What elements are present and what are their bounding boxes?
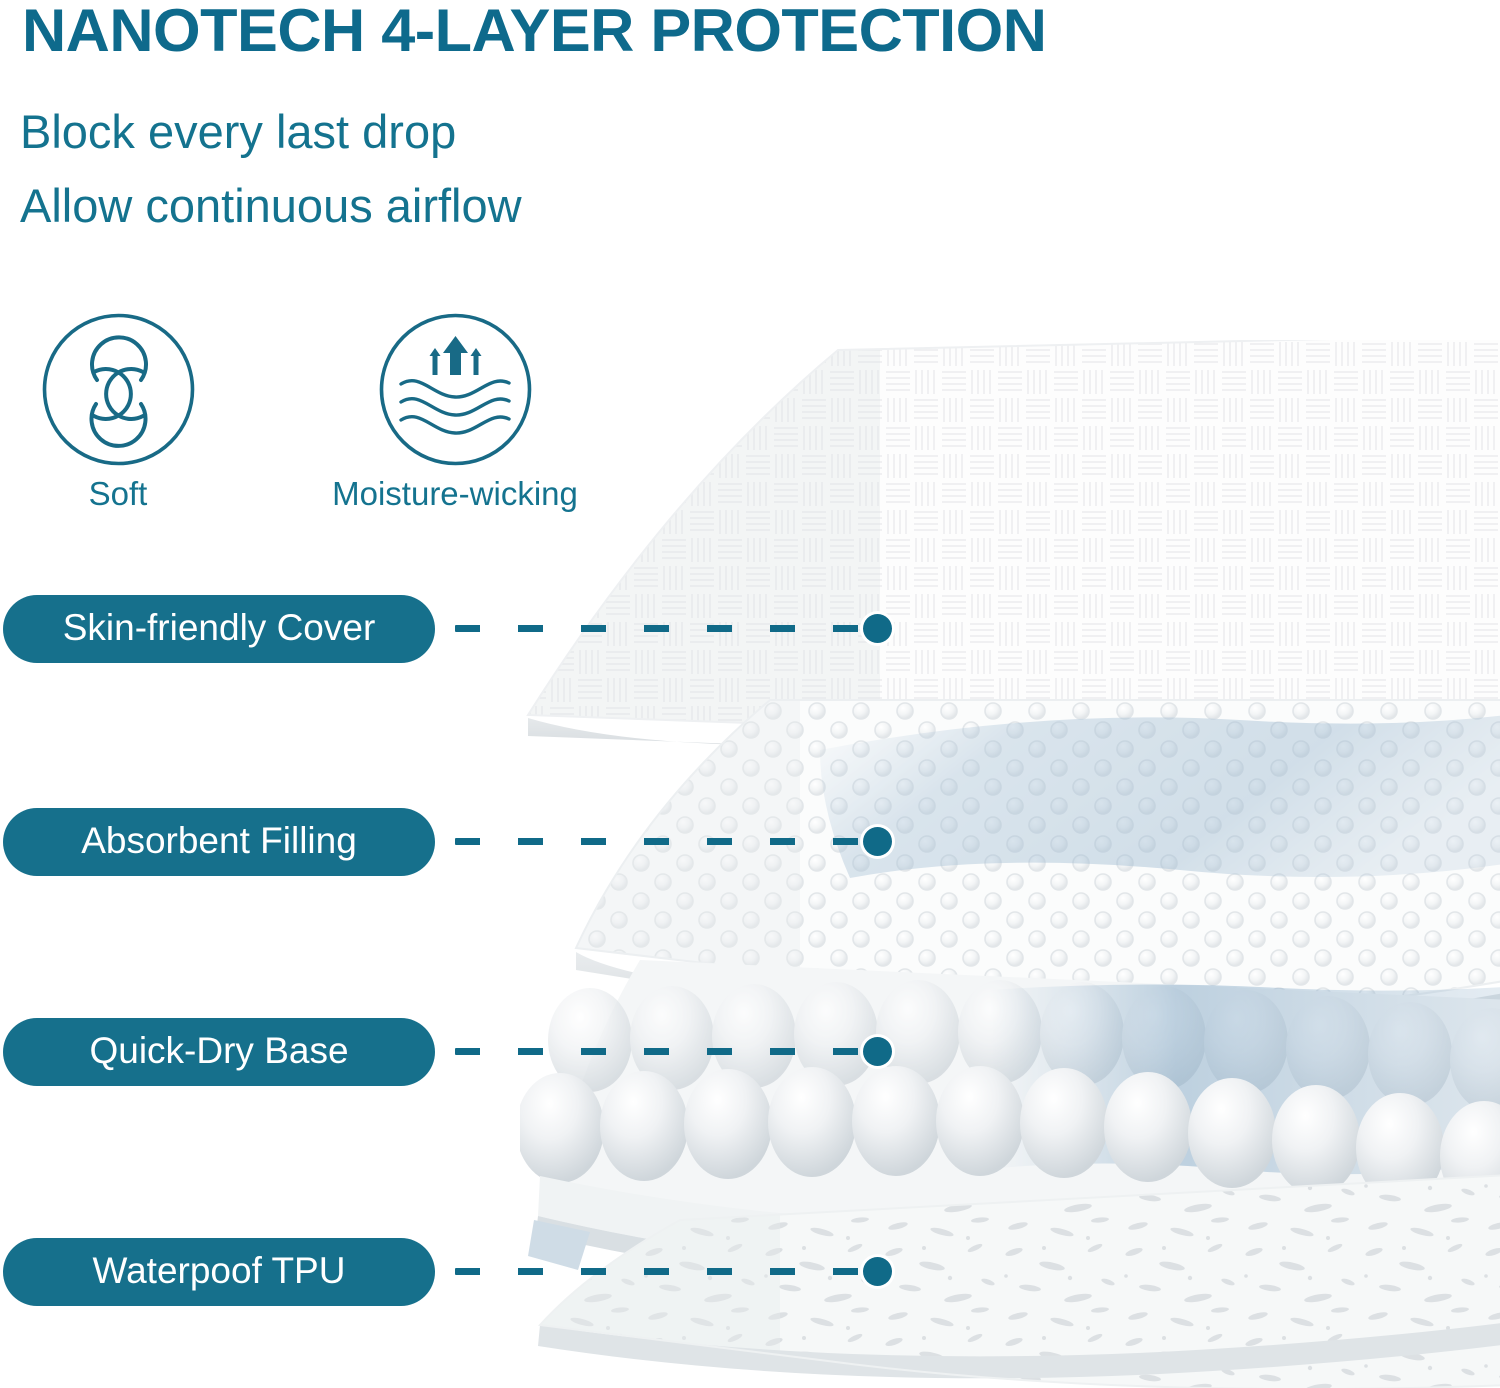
feature-soft: Soft <box>33 312 203 513</box>
layer-label-skin-friendly-cover[interactable]: Skin-friendly Cover <box>3 595 435 663</box>
pill-label: Absorbent Filling <box>81 820 357 862</box>
dashed-line <box>455 838 875 845</box>
exploded-layer-stack <box>520 340 1500 1388</box>
layer-label-absorbent-filling[interactable]: Absorbent Filling <box>3 808 435 876</box>
product-layer-illustration <box>520 340 1500 1388</box>
page-title: NANOTECH 4-LAYER PROTECTION <box>22 0 1046 65</box>
layer-label-quick-dry-base[interactable]: Quick-Dry Base <box>3 1018 435 1086</box>
feature-moisture-wicking: Moisture-wicking <box>370 312 540 513</box>
connector-dot <box>863 614 892 643</box>
dashed-line <box>455 1268 875 1275</box>
connector-dot <box>863 1037 892 1066</box>
dashed-line <box>455 625 875 632</box>
subtitle-line-2: Allow continuous airflow <box>20 178 522 233</box>
cotton-cloud-icon <box>41 312 196 467</box>
connector-dot <box>863 1257 892 1286</box>
layer-label-waterpoof-tpu[interactable]: Waterpoof TPU <box>3 1238 435 1306</box>
moisture-wicking-icon <box>378 312 533 467</box>
connector-dot <box>863 827 892 856</box>
subtitle-line-1: Block every last drop <box>20 104 456 159</box>
feature-label: Soft <box>33 475 203 513</box>
pill-label: Skin-friendly Cover <box>63 607 376 649</box>
pill-label: Waterpoof TPU <box>93 1250 346 1292</box>
pill-label: Quick-Dry Base <box>89 1030 348 1072</box>
infographic-page: NANOTECH 4-LAYER PROTECTION Block every … <box>0 0 1500 1388</box>
dashed-line <box>455 1048 875 1055</box>
